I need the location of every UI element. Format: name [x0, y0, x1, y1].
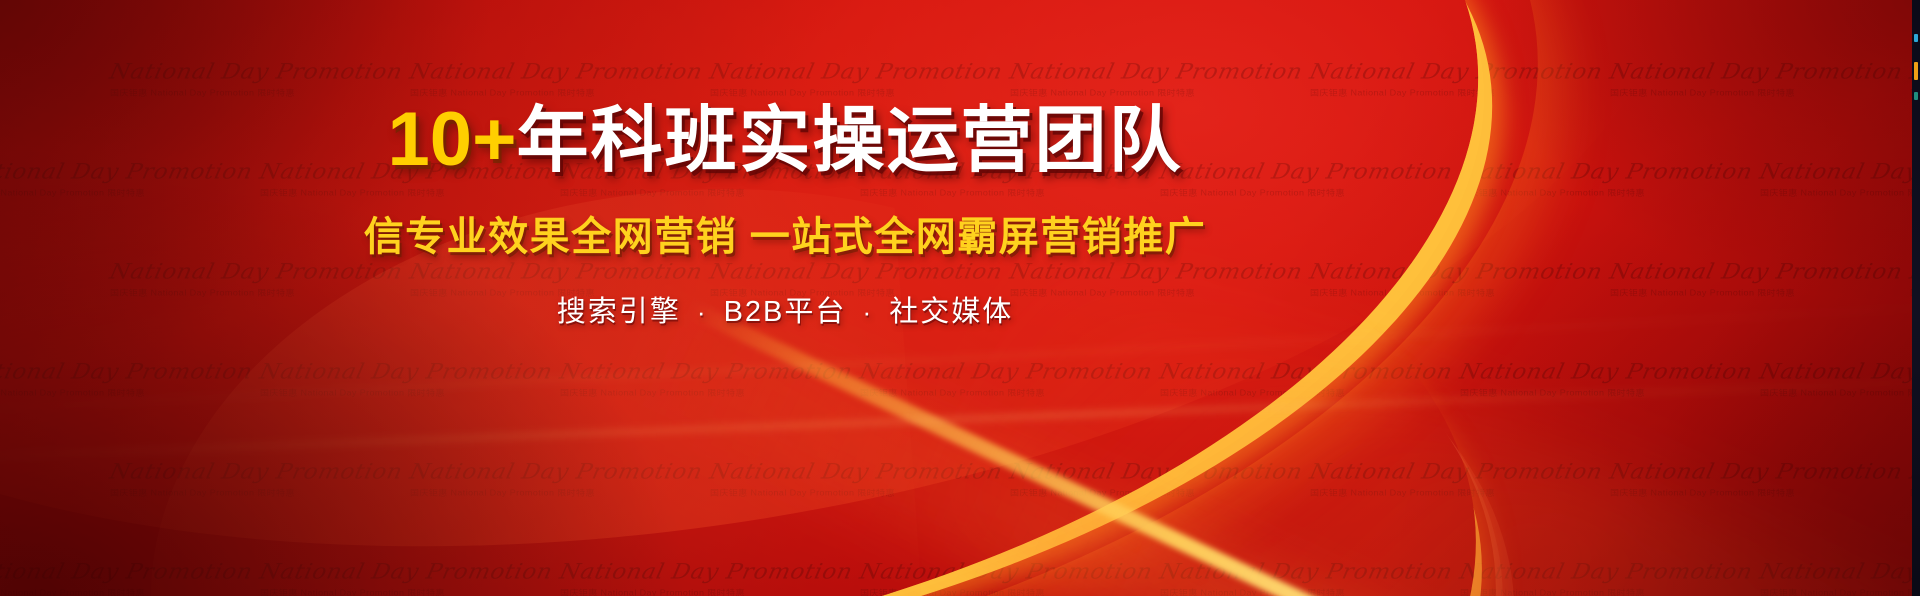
edge-marker-orange — [1914, 62, 1918, 80]
tagline-item-social-media: 社交媒体 — [889, 296, 1013, 328]
headline-text: 年科班实操运营团队 — [516, 101, 1182, 181]
edge-marker-blue — [1914, 34, 1918, 42]
tagline: 搜索引擎 · B2B平台 · 社交媒体 — [557, 288, 1013, 330]
right-edge-strip — [1912, 0, 1920, 596]
tagline-item-b2b-platform: B2B平台 — [724, 296, 847, 328]
promo-banner: National Day Promotion国庆钜惠 National Day … — [0, 0, 1920, 596]
headline-number: 10+ — [388, 97, 517, 182]
tagline-separator-2: · — [856, 297, 879, 327]
headline: 10+年科班实操运营团队 — [388, 100, 1183, 180]
subline: 信专业效果全网营销 一站式全网霸屏营销推广 — [364, 204, 1207, 262]
tagline-item-search-engine: 搜索引擎 — [557, 296, 681, 328]
banner-text-block: 10+年科班实操运营团队 信专业效果全网营销 一站式全网霸屏营销推广 搜索引擎 … — [0, 0, 1570, 596]
edge-marker-teal — [1914, 92, 1918, 100]
tagline-separator-1: · — [691, 297, 714, 327]
